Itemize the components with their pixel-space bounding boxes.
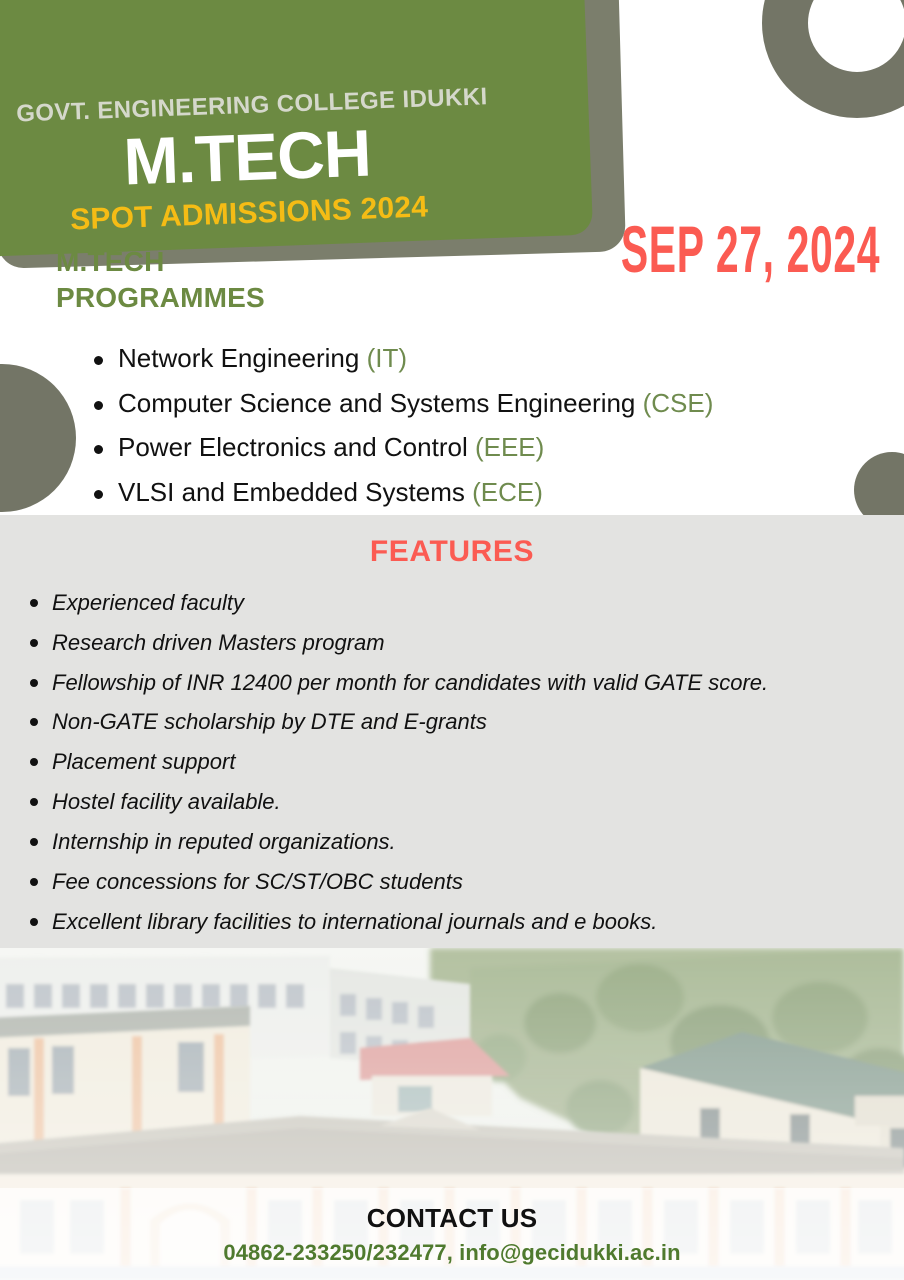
features-title: FEATURES [0,515,904,569]
programmes-list: Network Engineering (IT) Computer Scienc… [86,336,904,515]
list-item: Hostel facility available. [52,782,904,822]
contact-title: CONTACT US [367,1203,538,1234]
list-item: Experienced faculty [52,583,904,623]
programme-abbr: (IT) [367,343,407,373]
decorative-ring-top-right [762,0,904,118]
features-section: FEATURES Experienced faculty Research dr… [0,515,904,948]
list-item: Research driven Masters program [52,623,904,663]
programme-name: Network Engineering [118,343,367,373]
programme-name: Power Electronics and Control [118,432,475,462]
programme-abbr: (CSE) [643,388,714,418]
poster-root: GOVT. ENGINEERING COLLEGE IDUKKI M.TECH … [0,0,904,1280]
programme-abbr: (EEE) [475,432,544,462]
list-item: Excellent library facilities to internat… [52,902,904,942]
event-date: SEP 27, 2024 [621,216,880,282]
list-item: Network Engineering (IT) [118,336,904,381]
programmes-heading-line1: M.TECH [56,244,265,280]
page-title: M.TECH [17,112,567,199]
programme-abbr: (ECE) [472,477,543,507]
campus-photo: CONTACT US 04862-233250/232477, info@gec… [0,948,904,1280]
features-list: Experienced faculty Research driven Mast… [0,583,904,941]
list-item: Fee concessions for SC/ST/OBC students [52,862,904,902]
programmes-heading: M.TECH PROGRAMMES [56,244,265,316]
header-banner: GOVT. ENGINEERING COLLEGE IDUKKI M.TECH … [0,0,620,256]
decorative-circle-left-large [0,364,76,512]
programme-name: Computer Science and Systems Engineering [118,388,643,418]
list-item: Power Electronics and Control (EEE) [118,425,904,470]
header-banner-card: GOVT. ENGINEERING COLLEGE IDUKKI M.TECH … [0,0,593,257]
list-item: Internship in reputed organizations. [52,822,904,862]
list-item: Computer Science and Systems Engineering… [118,381,904,426]
programmes-heading-line2: PROGRAMMES [56,280,265,316]
list-item: Fellowship of INR 12400 per month for ca… [52,663,904,703]
programme-name: VLSI and Embedded Systems [118,477,472,507]
list-item: Non-GATE scholarship by DTE and E-grants [52,702,904,742]
list-item: Placement support [52,742,904,782]
contact-section: CONTACT US 04862-233250/232477, info@gec… [0,1188,904,1280]
list-item: VLSI and Embedded Systems (ECE) [118,470,904,515]
contact-info: 04862-233250/232477, info@gecidukki.ac.i… [223,1240,680,1266]
